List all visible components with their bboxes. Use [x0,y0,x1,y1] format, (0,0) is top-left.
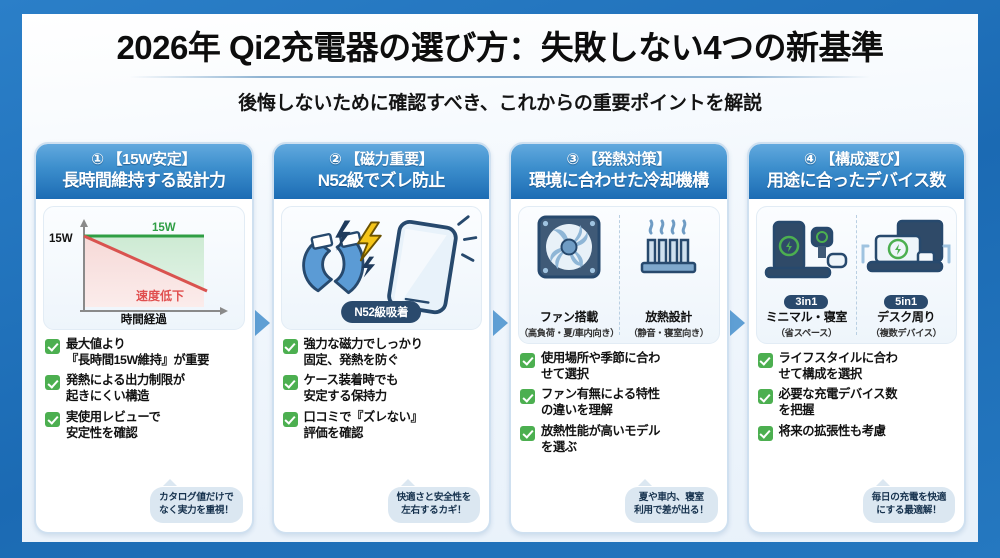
card-2-pill-badge: N52級吸着 [341,301,421,323]
card-2-callout-bubble: 快適さと安全性を 左右するカギ！ [388,487,480,523]
check-icon [520,426,535,441]
bullet-text: 使用場所や季節に合わ せて選択 [541,351,660,382]
chart-y-label: 15W [49,233,73,245]
card-3-body: ファン搭載 （高負荷・夏/車内向き） [511,199,727,532]
card-4-head-line2: 用途に合ったデバイス数 [753,170,961,191]
callout-text: 夏や車内、寝室 利用で差が出る！ [634,492,708,517]
check-icon [520,389,535,404]
bullet-text: 将来の拡張性も考慮 [779,424,886,440]
card-4-callout-bubble: 毎日の充電を快適 にする最適解！ [863,487,955,523]
card-3-visual-cooling: ファン搭載 （高負荷・夏/車内向き） [518,206,720,344]
callout-text: カタログ値だけで なく実力を重視！ [159,492,233,517]
card-2-bullets: 強力な磁力でしっかり 固定、発熱を防ぐ ケース装着時でも 安定する保持力 口コミ… [281,337,483,446]
config-5in1-sub: （複数デバイス） [856,325,956,339]
check-icon [758,389,773,404]
arrow-2-to-3-icon [491,310,509,336]
option-3in1: 3in1 ミニマル・寝室 （省スペース） [757,207,857,343]
bullet-text: ファン有無による特性 の違いを理解 [541,387,660,418]
card-3-callout-bubble: 夏や車内、寝室 利用で差が出る！ [625,487,717,523]
config-3in1-name: ミニマル・寝室 [757,311,857,324]
cooling-options: ファン搭載 （高負荷・夏/車内向き） [519,207,719,343]
check-icon [283,339,298,354]
card-3-header: ③ 【発熱対策】 環境に合わせた冷却機構 [511,144,727,199]
bullet-text: 強力な磁力でしっかり 固定、発熱を防ぐ [304,337,423,368]
option-fan: ファン搭載 （高負荷・夏/車内向き） [519,207,619,343]
card-3-bullets: 使用場所や季節に合わ せて選択 ファン有無による特性 の違いを理解 放熱性能が高… [518,351,720,460]
card-1-stable-15w[interactable]: ① 【15W安定】 長時間維持する設計力 [34,142,254,534]
card-1-visual-chart: 15W 15W 速度低下 時間経過 [43,206,245,330]
charger-5in1-icon [860,215,952,283]
fan-sub: （高負荷・夏/車内向き） [519,325,619,339]
config-3in1-sub: （省スペース） [757,325,857,339]
card-3-head-line2: 環境に合わせた冷却機構 [515,170,723,191]
bullet-text: 最大値より 『長時間15W維持』が重要 [66,337,209,368]
card-2-head-line2: N52級でズレ防止 [278,170,486,191]
option-5in1: 5in1 デスク周り （複数デバイス） [856,207,956,343]
check-icon [758,426,773,441]
page-title: 2026年 Qi2充電器の選び方：失敗しない4つの新基準 [22,30,978,67]
arrow-1-to-2-icon [254,310,272,336]
chart-x-label: 時間経過 [44,311,244,327]
card-2-visual-magnet: N52級吸着 [281,206,483,330]
card-1-head-line2: 長時間維持する設計力 [40,170,248,191]
check-icon [45,339,60,354]
check-icon [283,375,298,390]
bullet-item: ケース装着時でも 安定する保持力 [283,373,483,404]
bullet-item: 口コミで『ズレない』 評価を確認 [283,410,483,441]
card-4-bullets: ライフスタイルに合わ せて構成を選択 必要な充電デバイス数 を把握 将来の拡張性… [756,351,958,446]
card-3-cooling[interactable]: ③ 【発熱対策】 環境に合わせた冷却機構 [509,142,729,534]
config-5in1-name: デスク周り [856,311,956,324]
infographic-frame: 2026年 Qi2充電器の選び方：失敗しない4つの新基準 後悔しないために確認す… [0,0,1000,558]
check-icon [45,375,60,390]
check-icon [520,353,535,368]
bullet-item: 放熱性能が高いモデル を選ぶ [520,424,720,455]
check-icon [283,412,298,427]
magnet-icon [303,232,362,293]
header: 2026年 Qi2充電器の選び方：失敗しない4つの新基準 後悔しないために確認す… [22,14,978,115]
bullet-item: 実使用レビューで 安定性を確認 [45,410,245,441]
bullet-text: 放熱性能が高いモデル を選ぶ [541,424,660,455]
config-3in1-caption: 3in1 ミニマル・寝室 （省スペース） [757,292,857,339]
card-2-header: ② 【磁力重要】 N52級でズレ防止 [274,144,490,199]
fan-icon [535,213,603,281]
sparkle-icon [458,217,475,261]
card-2-body: N52級吸着 強力な磁力でしっかり 固定、発熱を防ぐ ケース装着時でも 安定する… [274,199,490,532]
card-1-header: ① 【15W安定】 長時間維持する設計力 [36,144,252,199]
page-subtitle: 後悔しないために確認すべき、これからの重要ポイントを解説 [22,88,978,115]
bullet-text: 必要な充電デバイス数 を把握 [779,387,898,418]
card-2-magnet[interactable]: ② 【磁力重要】 N52級でズレ防止 [272,142,492,534]
bullet-text: ケース装着時でも 安定する保持力 [304,373,399,404]
badge-5in1: 5in1 [884,295,928,309]
heatsink-sub: （静音・寝室向き） [619,325,719,339]
config-5in1-caption: 5in1 デスク周り （複数デバイス） [856,292,956,339]
bullet-item: 発熱による出力制限が 起きにくい構造 [45,373,245,404]
title-divider [129,76,871,78]
check-icon [758,353,773,368]
bullet-item: ライフスタイルに合わ せて構成を選択 [758,351,958,382]
chart-series-decline-label: 速度低下 [136,287,184,304]
charger-3in1-icon [760,215,852,283]
infographic-canvas: 2026年 Qi2充電器の選び方：失敗しない4つの新基準 後悔しないために確認す… [22,14,978,542]
bullet-item: 強力な磁力でしっかり 固定、発熱を防ぐ [283,337,483,368]
card-3-head-line1: ③ 【発熱対策】 [515,151,723,170]
badge-3in1: 3in1 [784,295,828,309]
heatsink-icon [635,213,703,281]
arrow-3-to-4-icon [729,310,747,336]
option-heatsink: 放熱設計 （静音・寝室向き） [619,207,719,343]
heatsink-name: 放熱設計 [619,311,719,324]
cards-row: ① 【15W安定】 長時間維持する設計力 [34,142,966,534]
fan-caption: ファン搭載 （高負荷・夏/車内向き） [519,311,619,339]
bullet-text: 実使用レビューで 安定性を確認 [66,410,160,441]
card-4-visual-configs: 3in1 ミニマル・寝室 （省スペース） [756,206,958,344]
card-4-head-line1: ④ 【構成選び】 [753,151,961,170]
bullet-text: 口コミで『ズレない』 評価を確認 [304,410,423,441]
bullet-item: 最大値より 『長時間15W維持』が重要 [45,337,245,368]
bullet-item: 将来の拡張性も考慮 [758,424,958,441]
bullet-text: ライフスタイルに合わ せて構成を選択 [779,351,898,382]
bullet-text: 発熱による出力制限が 起きにくい構造 [66,373,185,404]
bullet-item: 使用場所や季節に合わ せて選択 [520,351,720,382]
config-options: 3in1 ミニマル・寝室 （省スペース） [757,207,957,343]
callout-text: 毎日の充電を快適 にする最適解！ [872,492,946,517]
card-4-header: ④ 【構成選び】 用途に合ったデバイス数 [749,144,965,199]
card-1-bullets: 最大値より 『長時間15W維持』が重要 発熱による出力制限が 起きにくい構造 実… [43,337,245,446]
smartphone-icon [387,220,457,313]
chart-series-flat-label: 15W [152,222,176,234]
card-1-callout-bubble: カタログ値だけで なく実力を重視！ [150,487,242,523]
card-2-head-line1: ② 【磁力重要】 [278,151,486,170]
bullet-item: ファン有無による特性 の違いを理解 [520,387,720,418]
callout-text: 快適さと安全性を 左右するカギ！ [397,492,471,517]
heatsink-caption: 放熱設計 （静音・寝室向き） [619,311,719,339]
check-icon [45,412,60,427]
card-1-body: 15W 15W 速度低下 時間経過 最大値より 『長時間15W維持』が重要 発熱… [36,199,252,532]
card-4-body: 3in1 ミニマル・寝室 （省スペース） [749,199,965,532]
card-1-head-line1: ① 【15W安定】 [40,151,248,170]
fan-name: ファン搭載 [519,311,619,324]
card-4-configuration[interactable]: ④ 【構成選び】 用途に合ったデバイス数 [747,142,967,534]
bullet-item: 必要な充電デバイス数 を把握 [758,387,958,418]
